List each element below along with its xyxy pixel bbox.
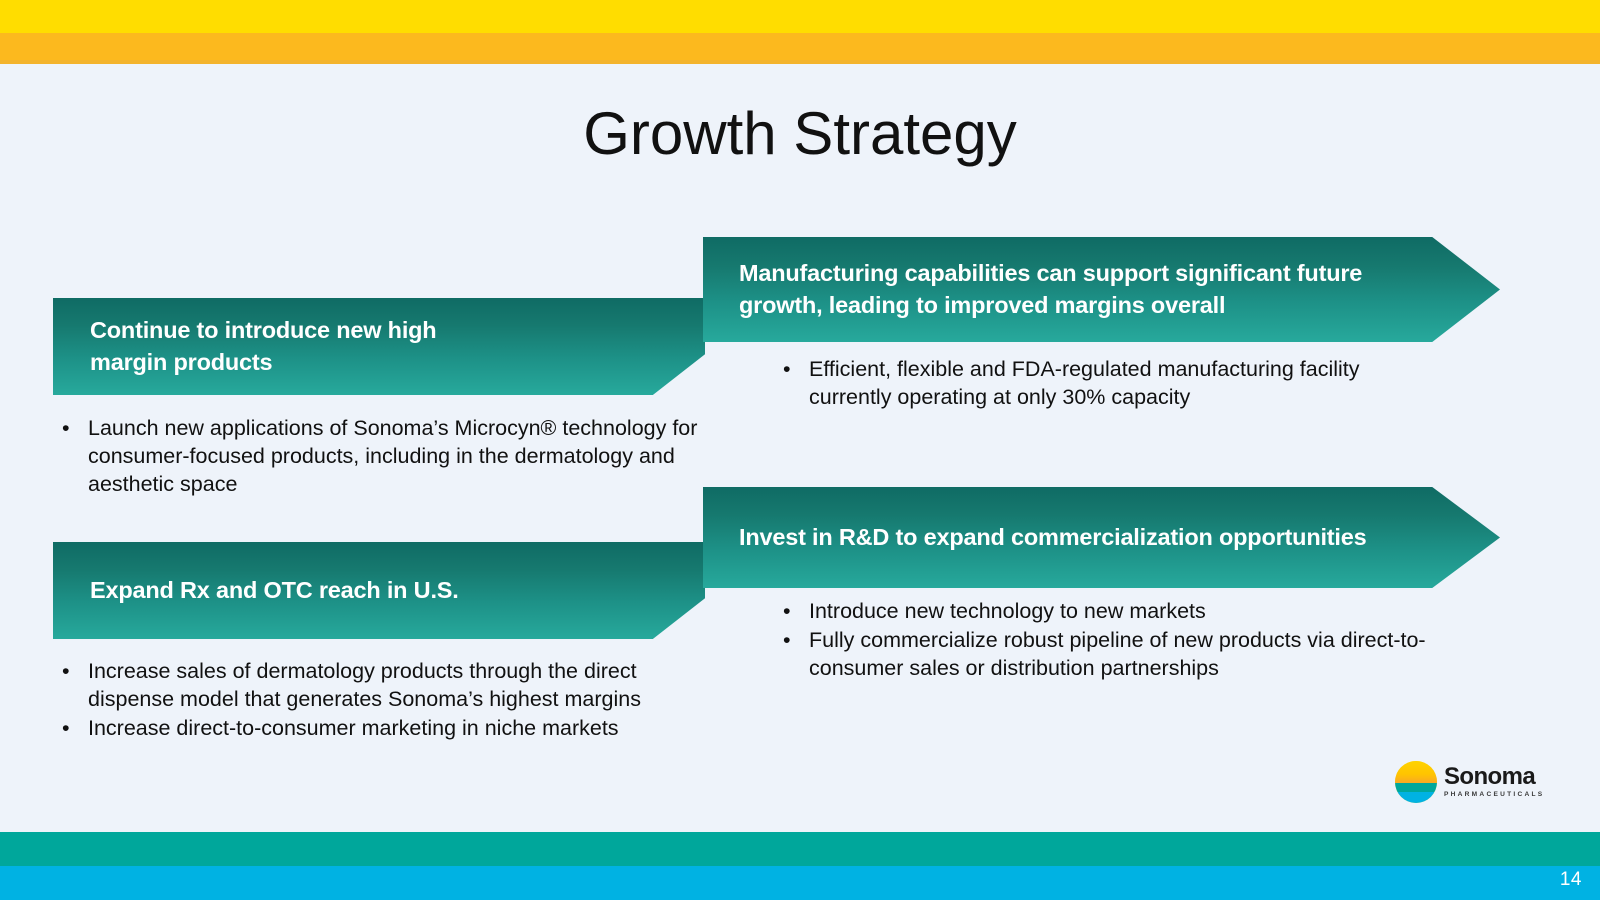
sonoma-logo: Sonoma PHARMACEUTICALS	[1395, 757, 1545, 807]
bullet-list-continue: • Launch new applications of Sonoma’s Mi…	[62, 415, 702, 500]
list-item: • Launch new applications of Sonoma’s Mi…	[62, 415, 702, 499]
top-accent-hairline	[0, 60, 1600, 64]
logo-wordmark: Sonoma PHARMACEUTICALS	[1444, 765, 1544, 799]
logo-segment-teal	[1395, 783, 1437, 792]
bullet-dot-icon: •	[62, 715, 88, 743]
list-item-text: Efficient, flexible and FDA-regulated ma…	[809, 356, 1423, 412]
top-accent-band-yellow	[0, 0, 1600, 33]
logo-subtitle: PHARMACEUTICALS	[1444, 792, 1544, 799]
bottom-accent-band-cyan	[0, 866, 1600, 900]
logo-segment-yellow	[1395, 761, 1437, 783]
list-item-text: Increase sales of dermatology products t…	[88, 658, 702, 714]
list-item-text: Launch new applications of Sonoma’s Micr…	[88, 415, 702, 499]
sonoma-sun-icon	[1395, 761, 1437, 803]
list-item: • Fully commercialize robust pipeline of…	[783, 627, 1463, 683]
bullet-list-expand: • Increase sales of dermatology products…	[62, 658, 702, 744]
banner-invest-rd: Invest in R&D to expand commercializatio…	[703, 487, 1500, 588]
banner-invest-heading: Invest in R&D to expand commercializatio…	[739, 522, 1367, 554]
banner-expand-heading: Expand Rx and OTC reach in U.S.	[90, 575, 459, 607]
list-item: • Increase sales of dermatology products…	[62, 658, 702, 714]
banner-manufacturing-heading: Manufacturing capabilities can support s…	[739, 258, 1420, 321]
banner-manufacturing-capabilities: Manufacturing capabilities can support s…	[703, 237, 1500, 342]
bullet-dot-icon: •	[62, 658, 88, 686]
bullet-dot-icon: •	[783, 356, 809, 384]
banner-continue-heading: Continue to introduce new high margin pr…	[90, 315, 436, 378]
bullet-dot-icon: •	[783, 627, 809, 655]
top-accent-band-orange	[0, 33, 1600, 60]
list-item-text: Fully commercialize robust pipeline of n…	[809, 627, 1463, 683]
list-item: • Introduce new technology to new market…	[783, 598, 1463, 626]
logo-segment-cyan	[1395, 792, 1437, 803]
list-item-text: Increase direct-to-consumer marketing in…	[88, 715, 702, 743]
list-item-text: Introduce new technology to new markets	[809, 598, 1463, 626]
page-title: Growth Strategy	[0, 104, 1600, 164]
list-item: • Efficient, flexible and FDA-regulated …	[783, 356, 1423, 412]
banner-expand-rx-otc: Expand Rx and OTC reach in U.S.	[53, 542, 705, 639]
bullet-list-invest: • Introduce new technology to new market…	[783, 598, 1463, 684]
bullet-dot-icon: •	[783, 598, 809, 626]
list-item: • Increase direct-to-consumer marketing …	[62, 715, 702, 743]
banner-continue-new-products: Continue to introduce new high margin pr…	[53, 298, 705, 395]
bullet-list-manufacturing: • Efficient, flexible and FDA-regulated …	[783, 356, 1423, 413]
bullet-dot-icon: •	[62, 415, 88, 443]
logo-name: Sonoma	[1444, 765, 1544, 789]
page-number: 14	[1560, 869, 1582, 891]
bottom-accent-band-teal	[0, 832, 1600, 866]
